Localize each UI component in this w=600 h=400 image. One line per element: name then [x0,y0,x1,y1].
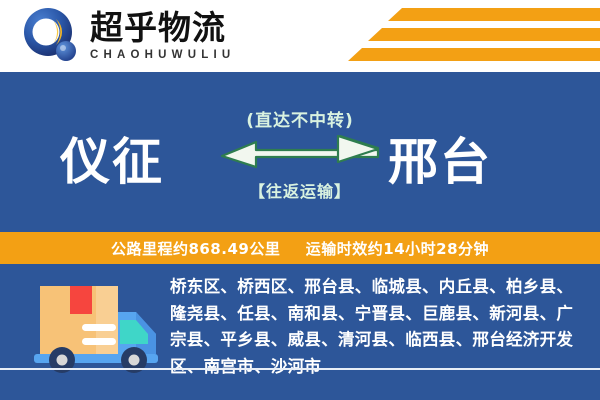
stripe-3 [348,48,600,61]
bottom-divider [0,368,600,370]
stripe-1 [388,8,600,21]
info-bar-content: 公路里程约868.49公里 运输时效约14小时28分钟 [111,238,489,259]
brand-logo: 超乎物流 CHAOHUWULIU [22,7,235,65]
brand-text-block: 超乎物流 CHAOHUWULIU [90,11,235,61]
brand-name-en: CHAOHUWULIU [90,49,235,61]
circle-crescent-logo-icon [22,7,80,65]
distance-text: 公路里程约868.49公里 [111,240,280,258]
banner-header: 超乎物流 CHAOHUWULIU [0,0,600,72]
brand-name-cn: 超乎物流 [90,11,235,46]
coverage-areas-text: 桥东区、桥西区、邢台县、临城县、内丘县、柏乡县、隆尧县、任县、南和县、宁晋县、巨… [170,274,585,381]
speed-stripes-decoration-icon [310,6,600,68]
coverage-section: 桥东区、桥西区、邢台县、临城县、内丘县、柏乡县、隆尧县、任县、南和县、宁晋县、巨… [0,264,600,400]
route-middle-block: (直达不中转) 【往返运输】 [212,106,388,202]
destination-city: 邢台 [388,122,492,194]
double-headed-arrow-icon [220,135,380,173]
delivery-truck-icon [24,276,166,376]
duration-text: 运输时效约14小时28分钟 [306,240,489,258]
route-info-bar: 公路里程约868.49公里 运输时效约14小时28分钟 [0,232,600,264]
logistics-route-banner: 超乎物流 CHAOHUWULIU 仪征 (直达不中转) [0,0,600,400]
origin-city: 仪征 [60,122,164,194]
direct-note: (直达不中转) [212,106,388,131]
route-section: 仪征 (直达不中转) 【往返运输】 邢台 [0,72,600,230]
stripe-2 [368,28,600,41]
roundtrip-note: 【往返运输】 [212,178,388,202]
